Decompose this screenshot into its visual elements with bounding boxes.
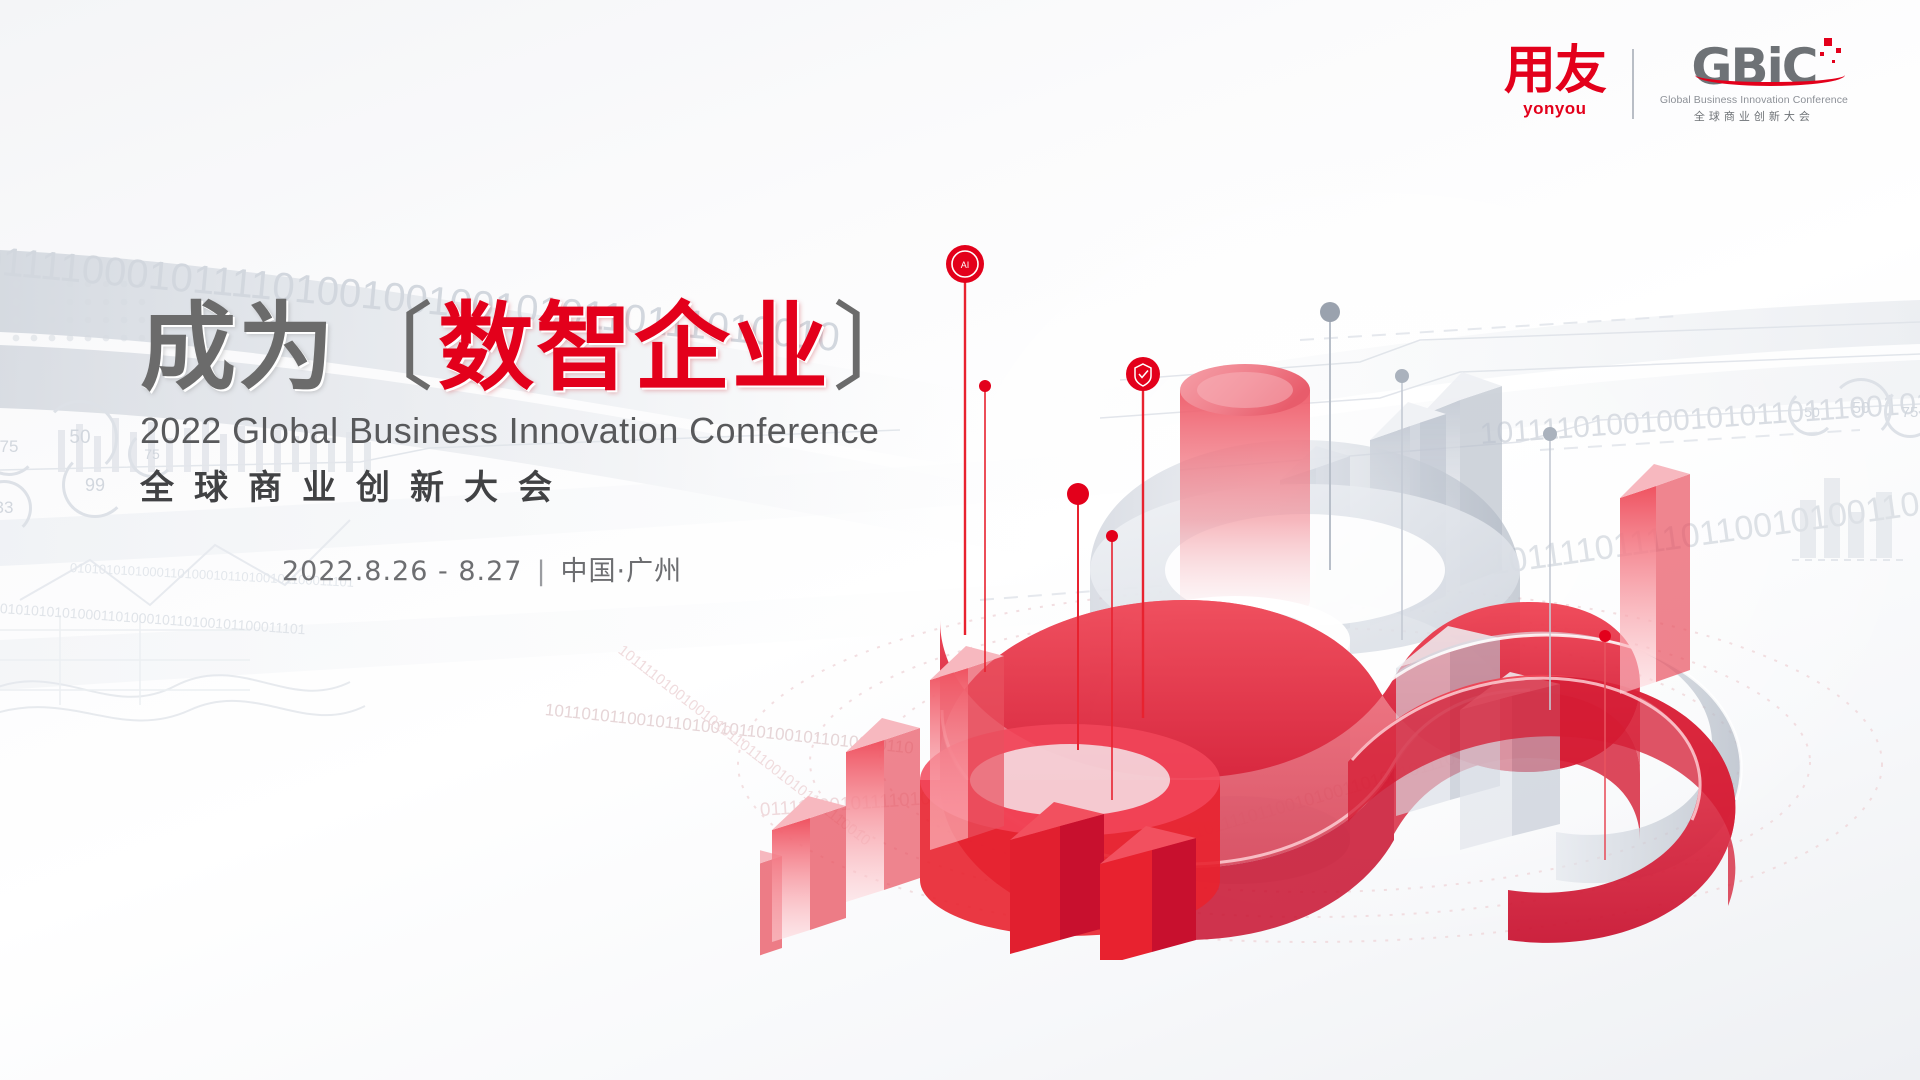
title-prefix: 成为	[140, 292, 336, 404]
gauge-indicator-4: 33	[0, 480, 32, 536]
gauge-value: 50	[1852, 400, 1870, 418]
red-cylinder-tall	[1180, 364, 1310, 626]
pin-dot-2	[979, 380, 991, 672]
subtitle-chinese: 全球商业创新大会	[140, 460, 932, 509]
yonyou-logo-en: yonyou	[1523, 99, 1586, 119]
page-title: 成为〔数智企业〕	[140, 300, 932, 396]
gauge-value: 50	[69, 427, 90, 449]
red-bar-right	[1620, 464, 1690, 694]
pin-ai-label: AI	[961, 260, 970, 270]
gauge-indicator-3: 99	[62, 452, 128, 518]
gauge-indicator-7: 50	[1830, 378, 1892, 440]
gauge-value: 33	[0, 498, 13, 518]
logo-divider	[1632, 49, 1634, 119]
conference-key-visual: 0111100010111101001001001010110111010010…	[0, 0, 1920, 1080]
logo-lockup: 用友 yonyou GBiC Global Business Innovatio…	[1504, 44, 1848, 124]
yonyou-logo[interactable]: 用友 yonyou	[1504, 48, 1606, 119]
gbic-wordmark: GBiC	[1691, 44, 1816, 92]
gauge-value: 99	[85, 475, 105, 496]
meta-separator: |	[536, 556, 546, 587]
gauge-value: 75	[0, 437, 18, 457]
pin-ai: AI	[946, 245, 984, 635]
event-meta: 2022.8.26 - 8.27|中国·广州	[282, 549, 932, 588]
event-date: 2022.8.26 - 8.27	[282, 556, 522, 587]
bracket-open: 〔	[338, 292, 436, 404]
gbic-swoosh-icon	[1695, 64, 1845, 86]
event-location: 中国·广州	[561, 556, 683, 587]
yonyou-logo-cn: 用友	[1504, 48, 1606, 96]
title-keyword: 数智企业	[438, 292, 830, 404]
gbic-tagline-cn: 全球商业创新大会	[1694, 108, 1814, 124]
gbic-logo[interactable]: GBiC Global Business Innovation Conferen…	[1660, 44, 1848, 124]
headline-block: 成为〔数智企业〕 2022 Global Business Innovation…	[140, 300, 932, 588]
gauge-indicator-1: 75	[0, 418, 38, 476]
binary-stream-4: 0101010101000110100010110100101100011101	[0, 600, 306, 637]
gauge-value: 75	[1902, 404, 1919, 421]
bracket-close: 〕	[832, 292, 930, 404]
subtitle-english: 2022 Global Business Innovation Conferen…	[140, 410, 932, 452]
